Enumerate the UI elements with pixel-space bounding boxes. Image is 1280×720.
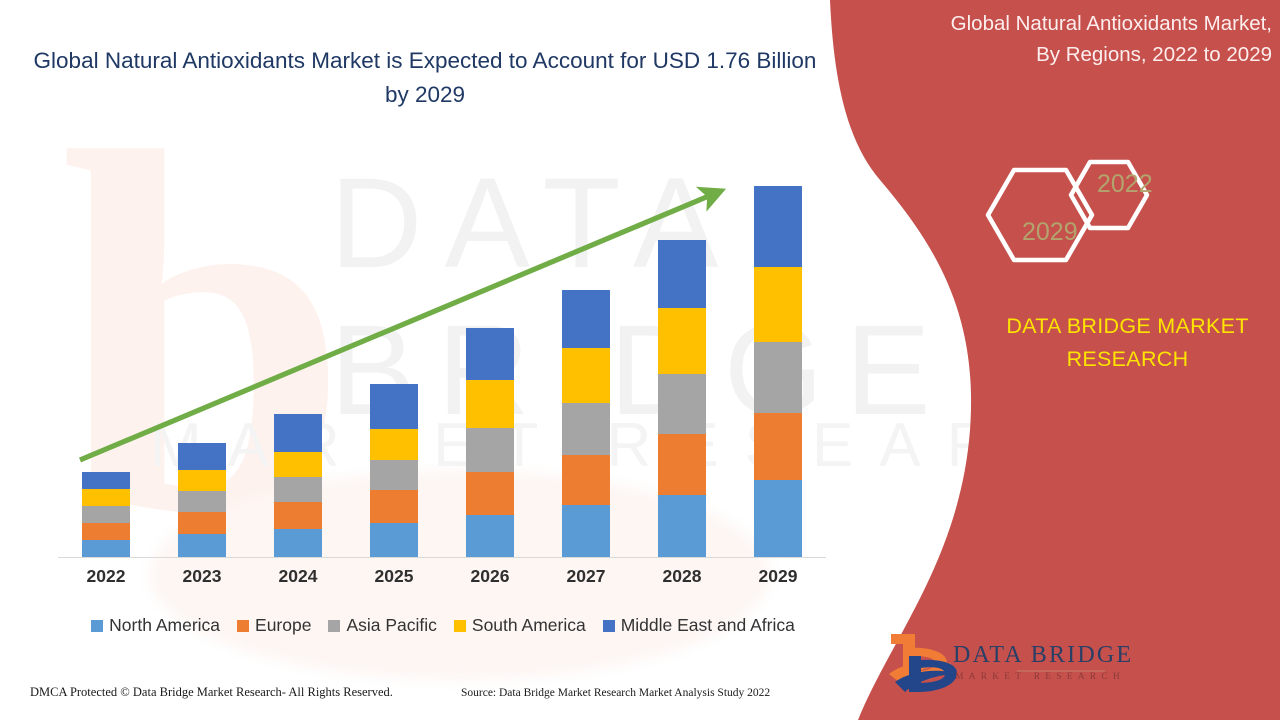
bar-column-2022	[58, 150, 154, 557]
bar-segment-asia-pacific	[178, 491, 226, 511]
legend-swatch-icon	[454, 620, 466, 632]
bar-segment-middle-east-and-africa	[370, 384, 418, 429]
bar-segment-north-america	[274, 529, 322, 557]
bar-segment-europe	[274, 502, 322, 529]
bar-segment-middle-east-and-africa	[82, 472, 130, 489]
copyright-text: DMCA Protected © Data Bridge Market Rese…	[30, 685, 393, 700]
hexagon-2022-label: 2022	[1097, 170, 1153, 199]
bar-column-2029	[730, 150, 826, 557]
bar-segment-middle-east-and-africa	[754, 186, 802, 267]
bar-segment-south-america	[370, 429, 418, 460]
bar-segment-asia-pacific	[562, 403, 610, 455]
legend-item-south-america[interactable]: South America	[454, 615, 586, 636]
legend-label: Middle East and Africa	[621, 615, 795, 636]
panel-title-line-2: By Regions, 2022 to 2029	[860, 39, 1272, 70]
brand-name: DATA BRIDGE MARKET RESEARCH	[985, 310, 1270, 376]
legend-label: Asia Pacific	[346, 615, 436, 636]
legend-item-asia-pacific[interactable]: Asia Pacific	[328, 615, 436, 636]
bar-segment-asia-pacific	[274, 477, 322, 502]
chart-plot-area	[58, 150, 826, 558]
brand-name-line-1: DATA BRIDGE MARKET	[985, 310, 1270, 343]
bar-segment-europe	[754, 413, 802, 480]
chart-legend: North AmericaEuropeAsia PacificSouth Ame…	[58, 615, 828, 636]
bar-segment-middle-east-and-africa	[274, 414, 322, 452]
bar-segment-south-america	[754, 267, 802, 342]
bar-segment-south-america	[178, 470, 226, 492]
legend-swatch-icon	[91, 620, 103, 632]
x-axis-label-2022: 2022	[58, 566, 154, 587]
bar-segment-middle-east-and-africa	[562, 290, 610, 348]
bar-segment-north-america	[82, 540, 130, 557]
brand-name-line-2: RESEARCH	[985, 343, 1270, 376]
bar-segment-north-america	[754, 480, 802, 557]
x-axis-label-2026: 2026	[442, 566, 538, 587]
legend-swatch-icon	[603, 620, 615, 632]
x-axis-label-2029: 2029	[730, 566, 826, 587]
panel-title-line-1: Global Natural Antioxidants Market,	[860, 8, 1272, 39]
legend-swatch-icon	[328, 620, 340, 632]
stacked-bar	[370, 384, 418, 557]
legend-item-north-america[interactable]: North America	[91, 615, 220, 636]
bar-segment-europe	[370, 490, 418, 522]
bar-segment-south-america	[274, 452, 322, 478]
x-axis-label-2025: 2025	[346, 566, 442, 587]
bar-segment-north-america	[658, 495, 706, 557]
bar-column-2028	[634, 150, 730, 557]
bar-segment-south-america	[658, 308, 706, 375]
bar-segment-middle-east-and-africa	[466, 328, 514, 380]
legend-swatch-icon	[237, 620, 249, 632]
stacked-bar	[274, 414, 322, 557]
bar-column-2025	[346, 150, 442, 557]
bar-segment-north-america	[466, 515, 514, 557]
bar-group	[58, 150, 826, 557]
x-axis-label-2024: 2024	[250, 566, 346, 587]
source-text: Source: Data Bridge Market Research Mark…	[461, 687, 770, 699]
x-axis-labels: 20222023202420252026202720282029	[58, 566, 826, 587]
stacked-bar	[466, 328, 514, 557]
legend-label: South America	[472, 615, 586, 636]
bar-segment-middle-east-and-africa	[178, 443, 226, 470]
legend-item-middle-east-and-africa[interactable]: Middle East and Africa	[603, 615, 795, 636]
bar-segment-asia-pacific	[370, 460, 418, 490]
bar-segment-asia-pacific	[658, 374, 706, 434]
bar-segment-europe	[466, 472, 514, 515]
bar-segment-south-america	[82, 489, 130, 506]
stacked-bar	[754, 186, 802, 557]
bar-segment-north-america	[178, 534, 226, 557]
x-axis-line	[58, 557, 826, 558]
stacked-bar	[82, 472, 130, 557]
bar-segment-europe	[562, 455, 610, 506]
panel-title: Global Natural Antioxidants Market, By R…	[860, 8, 1272, 70]
bar-segment-europe	[82, 523, 130, 540]
bar-segment-europe	[178, 512, 226, 535]
infographic-canvas: b DATA BRIDGE MARKET RESEARCH Global Nat…	[0, 0, 1280, 720]
bar-column-2023	[154, 150, 250, 557]
bar-segment-south-america	[466, 380, 514, 428]
bar-segment-europe	[658, 434, 706, 494]
bar-segment-asia-pacific	[466, 428, 514, 472]
x-axis-label-2023: 2023	[154, 566, 250, 587]
legend-label: Europe	[255, 615, 311, 636]
bar-segment-north-america	[562, 505, 610, 557]
x-axis-label-2027: 2027	[538, 566, 634, 587]
bar-segment-asia-pacific	[754, 342, 802, 413]
bar-segment-middle-east-and-africa	[658, 240, 706, 308]
legend-label: North America	[109, 615, 220, 636]
bar-column-2024	[250, 150, 346, 557]
stacked-bar	[658, 240, 706, 557]
page-title: Global Natural Antioxidants Market is Ex…	[30, 44, 820, 112]
bar-segment-north-america	[370, 523, 418, 557]
bar-segment-south-america	[562, 348, 610, 403]
stacked-bar	[178, 443, 226, 557]
bar-column-2027	[538, 150, 634, 557]
legend-item-europe[interactable]: Europe	[237, 615, 311, 636]
bar-segment-asia-pacific	[82, 506, 130, 522]
x-axis-label-2028: 2028	[634, 566, 730, 587]
logo-text-secondary: MARKET RESEARCH	[955, 672, 1125, 682]
hexagon-2029-label: 2029	[1022, 218, 1078, 247]
stacked-bar	[562, 290, 610, 557]
hexagon-pair	[975, 150, 1185, 280]
logo-text-primary: DATA BRIDGE	[953, 642, 1133, 669]
bar-column-2026	[442, 150, 538, 557]
